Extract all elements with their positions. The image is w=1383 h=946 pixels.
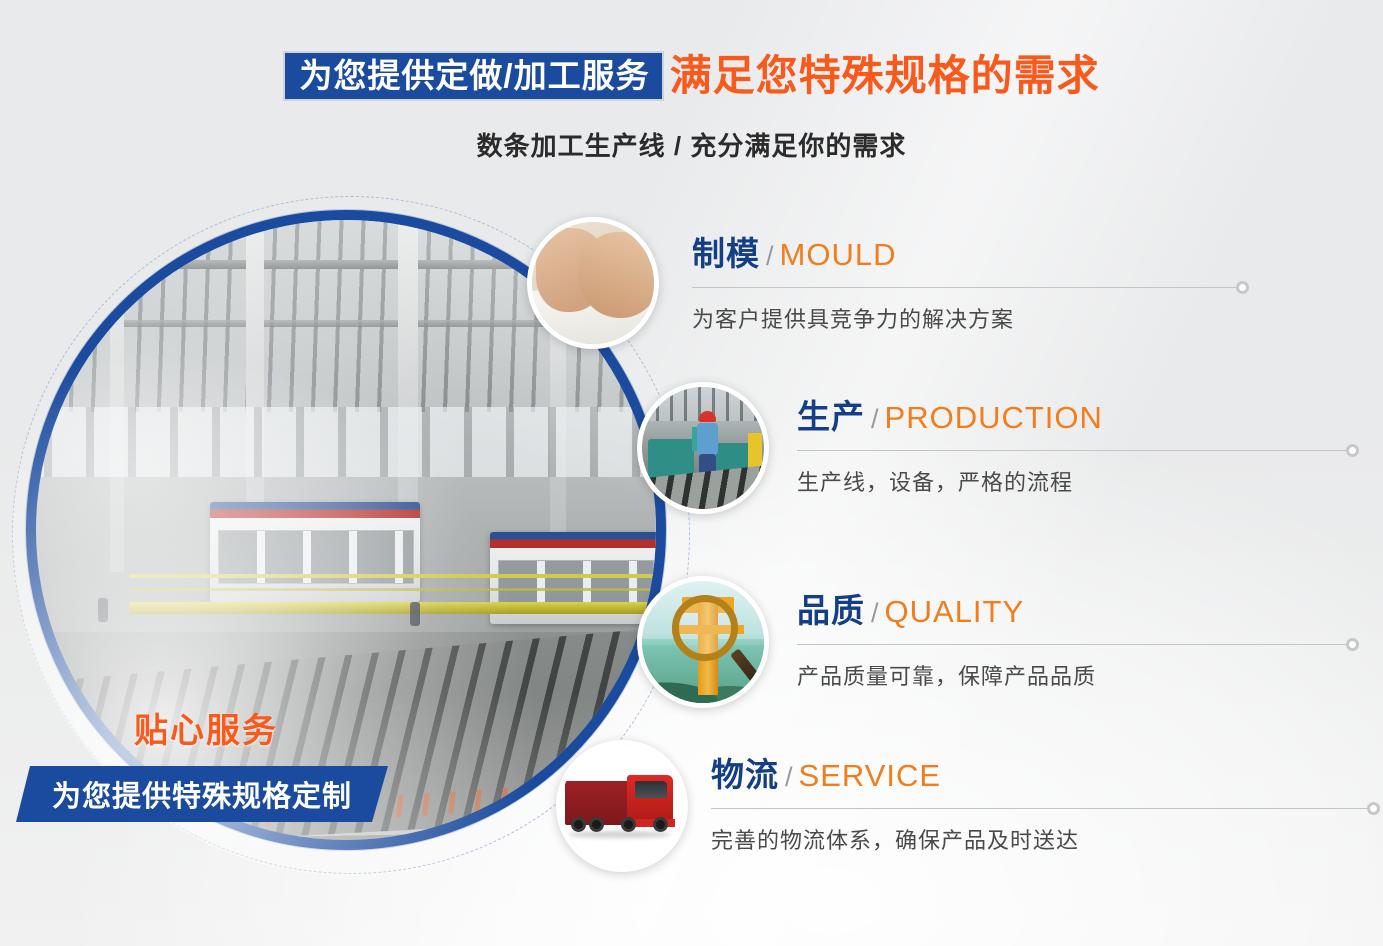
feature-title-en: QUALITY <box>885 594 1025 629</box>
feature-heading: 品质/QUALITY <box>797 594 1347 627</box>
feature-rule <box>711 808 1368 809</box>
feature-slash: / <box>766 241 774 271</box>
mould-design-icon <box>527 217 659 349</box>
rule-endpoint-icon <box>1236 281 1249 294</box>
feature-rule <box>797 644 1347 645</box>
rule-endpoint-icon <box>1367 802 1380 815</box>
feature-rule <box>797 450 1347 451</box>
service-banner-label: 为您提供特殊规格定制 <box>52 773 352 815</box>
rule-endpoint-icon <box>1346 638 1359 651</box>
feature-title-cn: 生产 <box>797 398 865 435</box>
page-subtitle: 数条加工生产线 / 充分满足你的需求 <box>0 126 1383 163</box>
feature-heading: 制模/MOULD <box>692 237 1237 270</box>
feature-description: 为客户提供具竞争力的解决方案 <box>692 302 1237 334</box>
feature-description: 生产线，设备，严格的流程 <box>797 465 1347 497</box>
feature-rule <box>692 287 1237 288</box>
promo-banner: 为您提供定做/加工服务 满足您特殊规格的需求 数条加工生产线 / 充分满足你的需… <box>0 0 1383 946</box>
feature-description: 产品质量可靠，保障产品品质 <box>797 659 1347 691</box>
feature-heading: 物流/SERVICE <box>711 758 1368 791</box>
service-banner[interactable]: 为您提供特殊规格定制 <box>16 766 388 822</box>
production-worker-icon <box>637 382 769 514</box>
feature-description: 完善的物流体系，确保产品及时送达 <box>711 823 1368 855</box>
feature-title-en: MOULD <box>780 237 897 272</box>
rule-endpoint-icon <box>1346 444 1359 457</box>
feature-slash: / <box>871 598 879 628</box>
feature-title-en: PRODUCTION <box>885 400 1103 435</box>
feature-title-cn: 品质 <box>797 592 865 629</box>
service-badge: 为您提供定做/加工服务 <box>283 51 663 101</box>
title-row: 为您提供定做/加工服务 满足您特殊规格的需求 <box>0 48 1383 104</box>
header: 为您提供定做/加工服务 满足您特殊规格的需求 数条加工生产线 / 充分满足你的需… <box>0 48 1383 163</box>
feature-title-cn: 制模 <box>692 235 760 272</box>
page-title: 满足您特殊规格的需求 <box>670 55 1100 97</box>
magnifier-quality-icon <box>637 576 769 708</box>
feature-slash: / <box>871 404 879 434</box>
service-title: 贴心服务 <box>36 703 376 752</box>
feature-title-en: SERVICE <box>799 758 942 793</box>
feature-title-cn: 物流 <box>711 756 779 793</box>
service-block: 贴心服务 为您提供特殊规格定制 <box>16 703 396 822</box>
feature-slash: / <box>785 762 793 792</box>
feature-heading: 生产/PRODUCTION <box>797 400 1347 433</box>
delivery-truck-icon <box>556 740 688 872</box>
